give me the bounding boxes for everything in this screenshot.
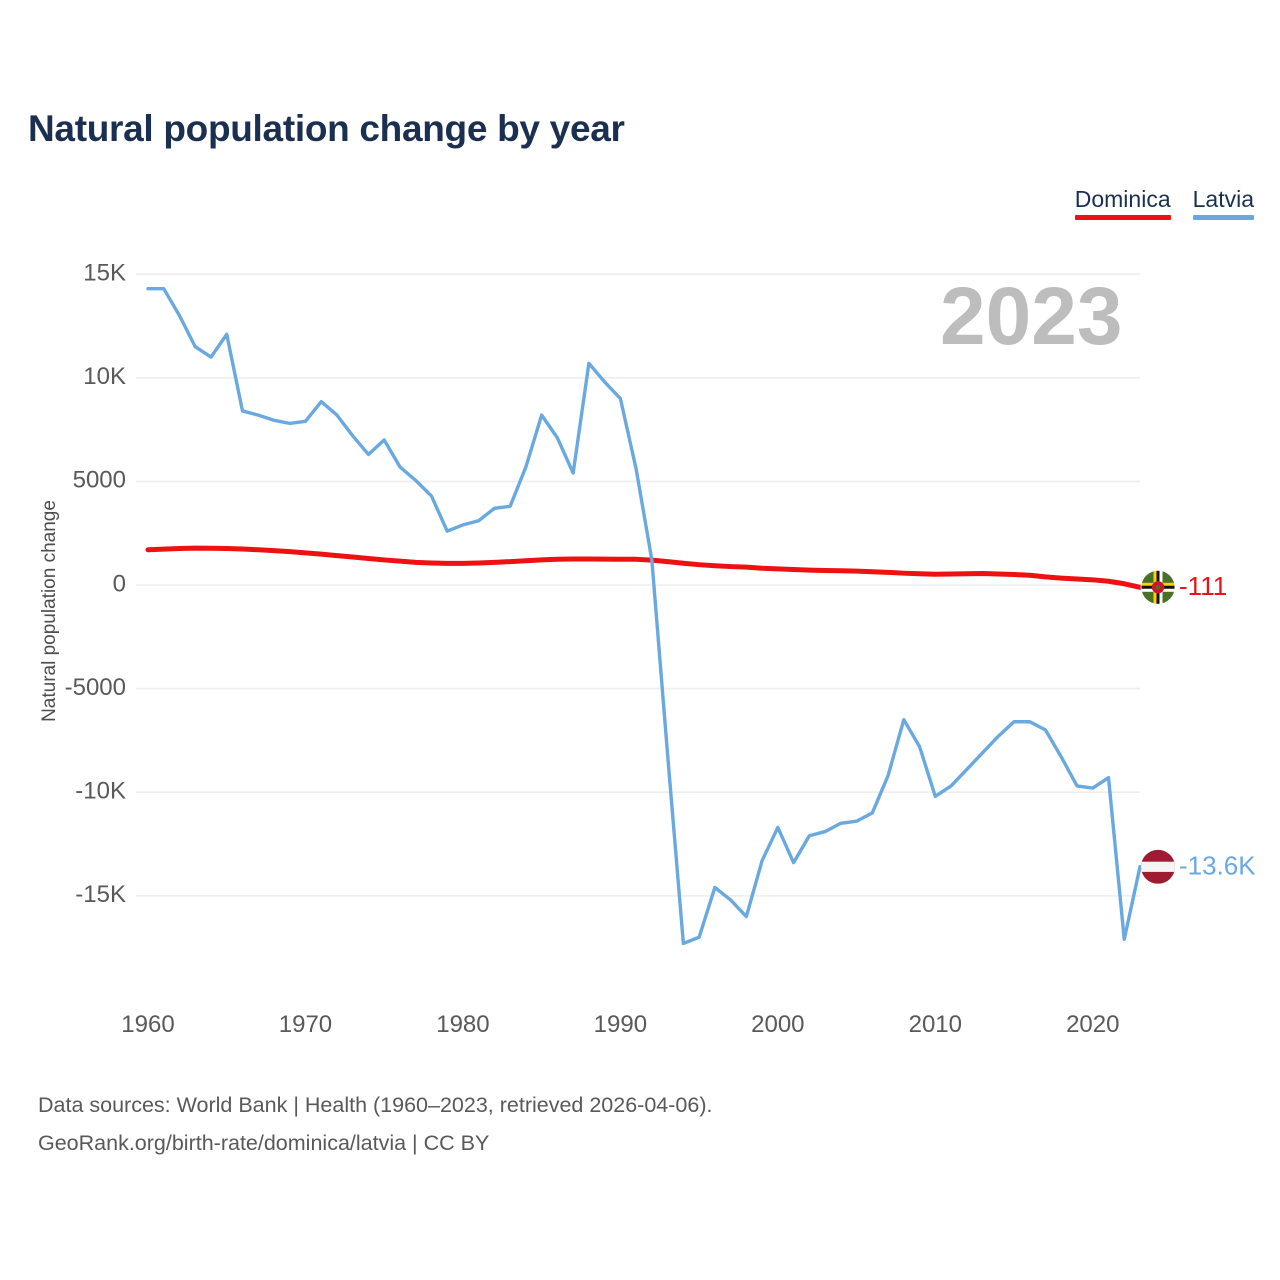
y-axis-tick-label: 10K — [83, 363, 126, 390]
endpoint-markers: -111-13.6K — [1140, 570, 1256, 883]
endpoint-value-dominica: -111 — [1179, 571, 1227, 601]
latvia-flag-icon — [1141, 850, 1175, 884]
y-axis-tick-label: 0 — [113, 570, 126, 597]
gridlines — [136, 274, 1140, 896]
x-axis-tick-label: 1960 — [121, 1011, 174, 1038]
y-axis-tick-label: 15K — [83, 260, 126, 287]
y-axis-tick-label: -10K — [75, 778, 126, 805]
chart-plot: 15K10K50000-5000-10K-15K 196019701980199… — [0, 0, 1280, 1060]
y-axis-tick-label: -5000 — [65, 674, 126, 701]
x-axis-tick-label: 1970 — [279, 1011, 332, 1038]
x-axis-tick-label: 1980 — [436, 1011, 489, 1038]
endpoint-value-latvia: -13.6K — [1179, 851, 1256, 881]
chart-page: Natural population change by year Domini… — [0, 0, 1280, 1280]
x-axis-tick-label: 2000 — [751, 1011, 804, 1038]
x-axis-tick-label: 2010 — [909, 1011, 962, 1038]
x-axis-tick-label: 2020 — [1066, 1011, 1119, 1038]
x-axis-ticks: 1960197019801990200020102020 — [121, 1011, 1119, 1038]
y-axis-ticks: 15K10K50000-5000-10K-15K — [65, 260, 126, 909]
footer-line-sources: Data sources: World Bank | Health (1960–… — [38, 1086, 712, 1124]
series-line-latvia[interactable] — [148, 289, 1140, 944]
footer-line-attribution: GeoRank.org/birth-rate/dominica/latvia |… — [38, 1124, 712, 1162]
y-axis-tick-label: -15K — [75, 881, 126, 908]
dominica-flag-icon — [1141, 570, 1175, 604]
series-line-dominica[interactable] — [148, 548, 1140, 587]
footer: Data sources: World Bank | Health (1960–… — [38, 1086, 712, 1162]
x-axis-tick-label: 1990 — [594, 1011, 647, 1038]
series-paths — [148, 289, 1140, 944]
y-axis-tick-label: 5000 — [73, 467, 126, 494]
